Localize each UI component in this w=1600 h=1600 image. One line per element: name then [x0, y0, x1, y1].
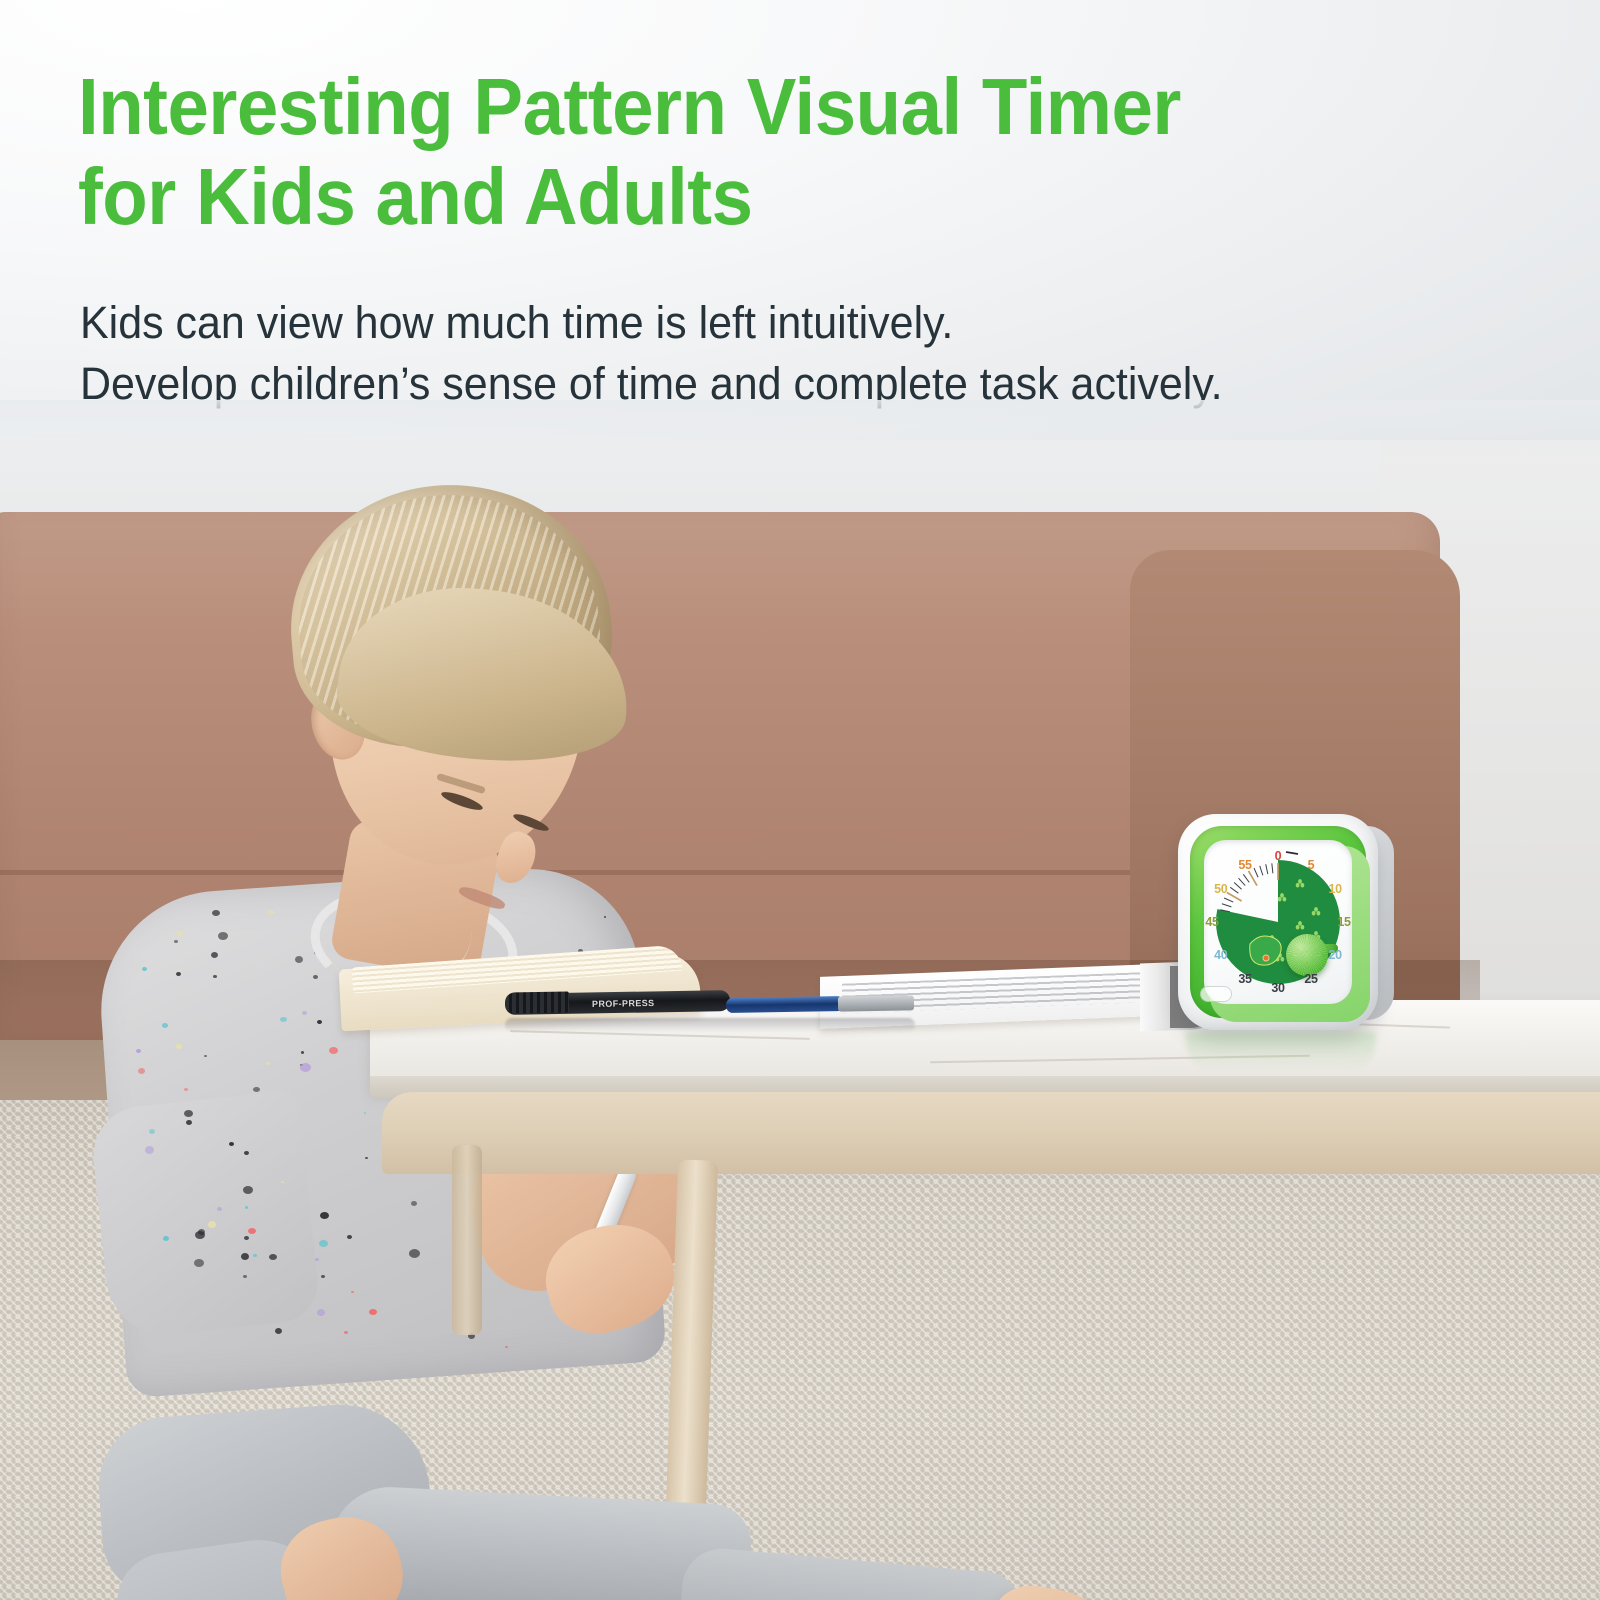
splatter-dot: [211, 952, 218, 958]
dial-number-35: 35: [1238, 973, 1251, 986]
splatter-dot: [145, 1146, 154, 1154]
splatter-dot: [213, 975, 217, 978]
splatter-dot: [229, 1142, 234, 1146]
dial-number-40: 40: [1214, 949, 1227, 962]
splatter-dot: [280, 1017, 287, 1022]
timer-knob-ribbing: [1286, 934, 1328, 976]
splatter-dot: [163, 1236, 169, 1241]
splatter-dot: [347, 1235, 352, 1239]
dial-number-15: 15: [1337, 916, 1350, 929]
dial-number-25: 25: [1304, 973, 1317, 986]
splatter-dot: [320, 1212, 329, 1219]
blue-pen: [726, 996, 844, 1013]
product-marketing-image: PROF-PRESS 05: [0, 0, 1600, 1600]
splatter-dot: [365, 1157, 368, 1159]
zero-marker-dash: [1286, 852, 1298, 854]
dial-tick: [1224, 898, 1233, 902]
splatter-dot: [351, 1291, 354, 1293]
t-shirt-sleeve: [89, 1090, 322, 1341]
splatter-dot: [411, 1201, 417, 1206]
dial-number-50: 50: [1214, 883, 1227, 896]
table-apron: [382, 1092, 1600, 1174]
splatter-dot: [344, 1331, 348, 1334]
splatter-dot: [245, 1206, 248, 1209]
splatter-dot: [295, 956, 303, 963]
splatter-dot: [244, 1151, 249, 1155]
lifestyle-photo: PROF-PRESS 05: [0, 400, 1600, 1600]
brand-logo-badge: [1200, 986, 1232, 1002]
dial-number-0: 0: [1275, 850, 1282, 863]
splatter-dot: [315, 1258, 319, 1261]
splatter-dot: [177, 931, 183, 936]
marker-brand-label: PROF-PRESS: [592, 997, 712, 1009]
splatter-dot: [505, 1346, 508, 1348]
splatter-dot: [321, 1275, 325, 1278]
splatter-dot: [248, 1228, 256, 1234]
dial-number-55: 55: [1238, 859, 1251, 872]
dial-number-30: 30: [1271, 982, 1284, 995]
splatter-dot: [300, 1063, 311, 1072]
splatter-dot: [184, 1110, 193, 1117]
page-title: Interesting Pattern Visual Timer for Kid…: [78, 62, 1399, 241]
splatter-dot: [204, 1055, 207, 1057]
splatter-dot: [198, 1229, 205, 1235]
splatter-dot: [329, 1047, 338, 1054]
dial-tick: [1234, 883, 1241, 890]
timer-housing: 0510152025303540455055: [1178, 814, 1378, 1030]
splatter-dot: [364, 1112, 366, 1114]
dial-tick: [1230, 887, 1238, 893]
dial-tick: [1254, 868, 1258, 877]
timer-dial-graphics: [1204, 840, 1352, 1004]
splatter-dot: [194, 1259, 204, 1267]
dial-tick: [1266, 864, 1268, 874]
marketing-banner: Interesting Pattern Visual Timer for Kid…: [0, 0, 1600, 440]
splatter-dot: [162, 1023, 168, 1028]
splatter-dot: [184, 1088, 188, 1091]
banner-photo-blend: [0, 400, 1600, 460]
dial-number-5: 5: [1308, 859, 1315, 872]
dial-number-45: 45: [1205, 916, 1218, 929]
page-subtitle: Kids can view how much time is left intu…: [80, 292, 1513, 414]
splatter-dot: [313, 975, 318, 979]
splatter-dot: [268, 910, 274, 915]
timer-dial-face: 0510152025303540455055: [1204, 840, 1352, 1004]
splatter-dot: [269, 1254, 277, 1260]
splatter-dot: [241, 1253, 249, 1260]
dial-tick: [1222, 904, 1232, 907]
dial-tick: [1260, 866, 1263, 876]
splatter-dot: [302, 1011, 307, 1015]
splatter-dot: [409, 1249, 420, 1258]
splatter-dot: [243, 1275, 247, 1278]
splatter-dot: [253, 1087, 260, 1092]
black-marker-grip: [505, 991, 569, 1013]
splatter-dot: [218, 932, 228, 940]
splatter-dot: [369, 1309, 377, 1315]
timer-reflection: [1186, 1032, 1376, 1072]
splatter-dot: [179, 969, 181, 971]
marker-reflection: [505, 1018, 915, 1032]
splatter-dot: [142, 967, 147, 971]
splatter-dot: [604, 916, 606, 918]
pen-cap: [838, 995, 914, 1011]
splatter-dot: [275, 1328, 282, 1334]
splatter-dot: [253, 1254, 257, 1257]
splatter-dot: [217, 1207, 222, 1211]
island-marker-dot: [1263, 955, 1269, 961]
splatter-dot: [138, 1068, 145, 1074]
dial-tick: [1243, 874, 1249, 882]
splatter-dot: [244, 1236, 249, 1240]
splatter-dot: [243, 1186, 253, 1194]
dial-tick: [1239, 878, 1246, 885]
splatter-dot: [174, 940, 178, 943]
splatter-dot: [176, 1044, 182, 1049]
splatter-dot: [186, 1120, 192, 1125]
splatter-dot: [317, 1020, 322, 1024]
splatter-dot: [212, 910, 220, 916]
splatter-dot: [176, 972, 181, 976]
splatter-dot: [136, 1049, 141, 1053]
table-leg-rear: [452, 1145, 482, 1335]
splatter-dot: [149, 1129, 155, 1134]
visual-timer-device[interactable]: 0510152025303540455055: [1178, 814, 1394, 1046]
dial-number-20: 20: [1329, 949, 1342, 962]
splatter-dot: [301, 1051, 304, 1054]
splatter-dot: [266, 1062, 270, 1065]
dial-number-10: 10: [1329, 883, 1342, 896]
splatter-dot: [319, 1240, 328, 1247]
splatter-dot: [281, 1181, 284, 1183]
splatter-dot: [317, 1309, 325, 1316]
dial-tick: [1272, 863, 1273, 873]
splatter-dot: [208, 1221, 216, 1228]
